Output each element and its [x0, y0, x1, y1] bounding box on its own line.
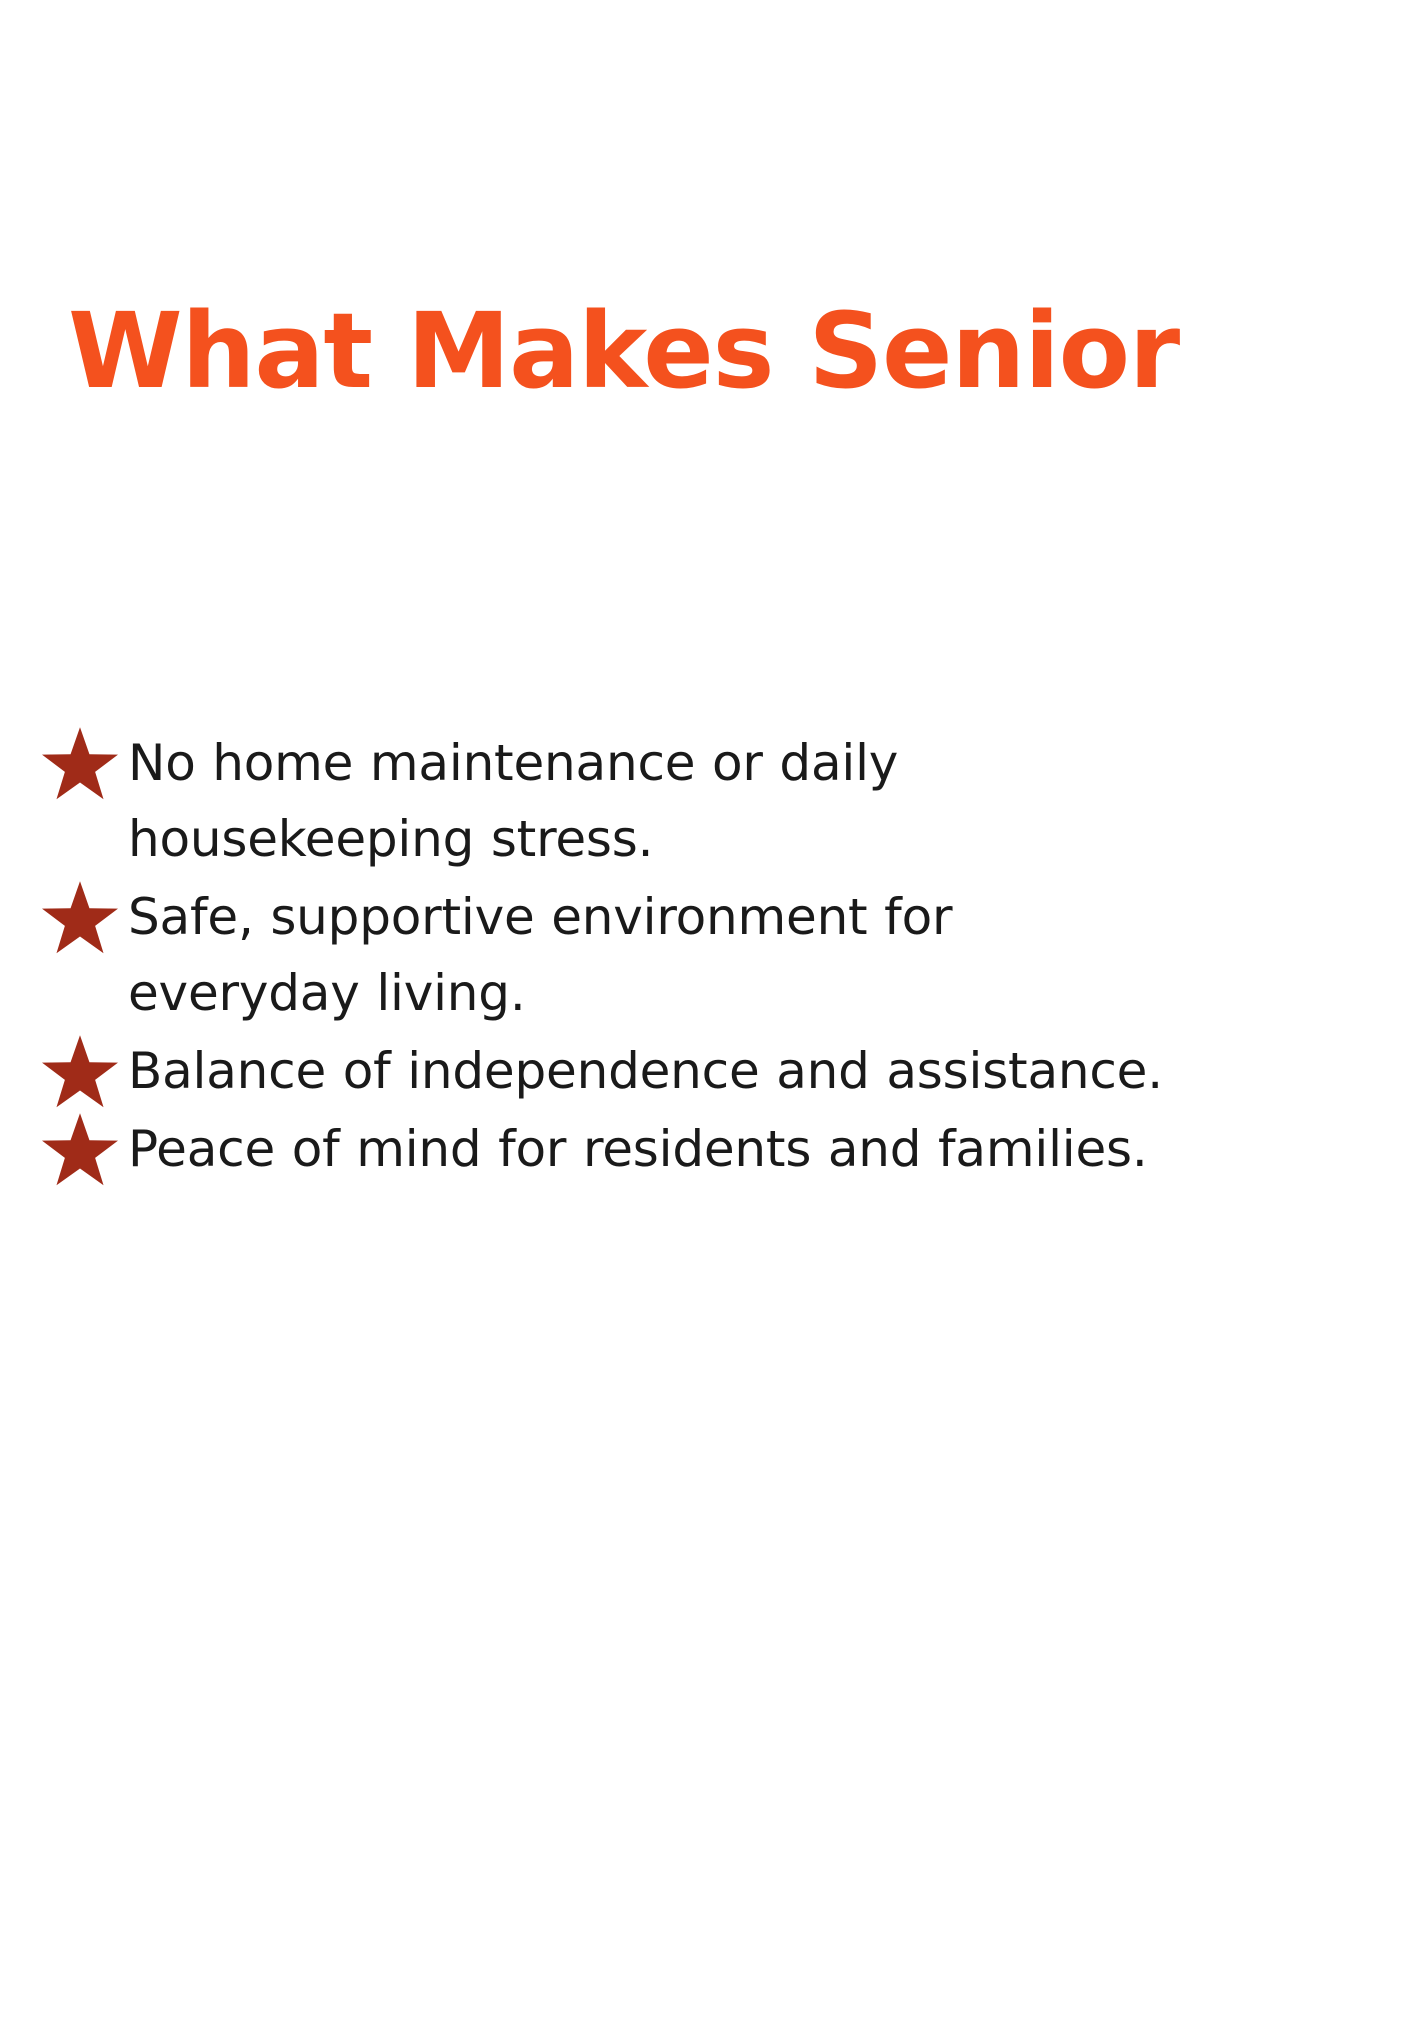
list-item: No home maintenance or daily housekeepin… [40, 725, 1428, 877]
star-icon [40, 879, 120, 957]
title-block: What Makes Senior [68, 288, 1428, 415]
list-item: Peace of mind for residents and families… [40, 1111, 1428, 1187]
list-item: Balance of independence and assistance. [40, 1033, 1428, 1109]
star-icon [40, 1111, 120, 1189]
page-title: What Makes Senior [68, 288, 1428, 415]
list-item: Safe, supportive environment for everyda… [40, 879, 1428, 1031]
benefits-bullet-list: No home maintenance or daily housekeepin… [40, 725, 1428, 1189]
star-icon [40, 725, 120, 803]
slide-canvas: What Makes Senior No home maintenance or… [0, 0, 1428, 2018]
list-item-label: Peace of mind for residents and families… [128, 1111, 1428, 1187]
list-item-label: No home maintenance or daily housekeepin… [128, 725, 1158, 877]
list-item-label: Safe, supportive environment for everyda… [128, 879, 1158, 1031]
list-item-label: Balance of independence and assistance. [128, 1033, 1428, 1109]
star-icon [40, 1033, 120, 1111]
